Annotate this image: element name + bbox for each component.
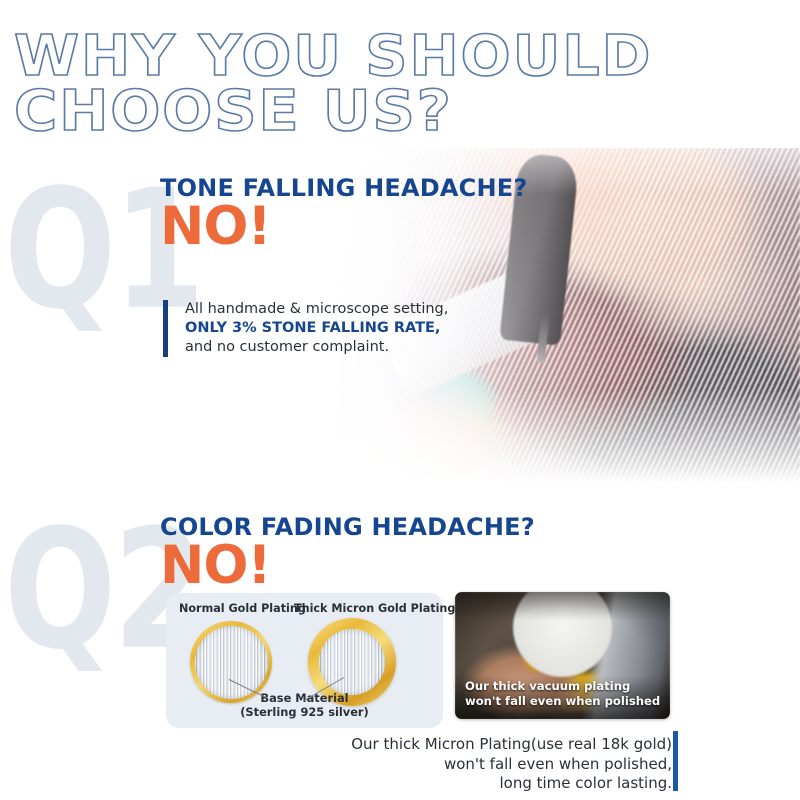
answer-detail-line: All handmade & microscope setting, <box>185 300 448 319</box>
base-material-label-line-1: Base Material <box>166 691 443 705</box>
answer-detail-line: and no customer complaint. <box>185 338 448 357</box>
coin-normal-base-material <box>195 626 268 699</box>
base-material-label-line-2: (Sterling 925 silver) <box>166 705 443 719</box>
plating-label-thick: Thick Micron Gold Plating <box>294 602 455 615</box>
answer-details-q1: All handmade & microscope setting, ONLY … <box>163 300 448 357</box>
base-material-label: Base Material (Sterling 925 silver) <box>166 691 443 719</box>
closing-line-2: won't fall even when polished, <box>351 755 672 775</box>
page-title-line-1: WHY YOU SHOULD <box>14 30 800 82</box>
photo-caption-line-1: Our thick vacuum plating <box>465 679 660 694</box>
closing-accent-bar <box>673 731 678 791</box>
answer-q1: NO! <box>160 200 271 253</box>
page-title: WHY YOU SHOULD CHOOSE US? <box>14 30 774 131</box>
infographic-page: WHY YOU SHOULD CHOOSE US? Q1 TONE FALLIN… <box>0 0 800 800</box>
photo-caption-line-2: won't fall even when polished <box>465 694 660 709</box>
closing-line-3: long time color lasting. <box>351 774 672 794</box>
photo-caption: Our thick vacuum plating won't fall even… <box>465 679 660 708</box>
plating-label-normal: Normal Gold Plating <box>179 602 306 615</box>
plating-comparison-diagram: Normal Gold Plating Thick Micron Gold Pl… <box>166 593 443 728</box>
answer-detail-line-highlight: ONLY 3% STONE FALLING RATE, <box>185 319 448 338</box>
answer-q2: NO! <box>160 539 271 592</box>
closing-line-1: Our thick Micron Plating(use real 18k go… <box>351 735 672 755</box>
closing-statement: Our thick Micron Plating(use real 18k go… <box>351 735 672 794</box>
page-title-line-2: CHOOSE US? <box>14 85 800 137</box>
photo-polishing-ring: Our thick vacuum plating won't fall even… <box>455 592 670 719</box>
